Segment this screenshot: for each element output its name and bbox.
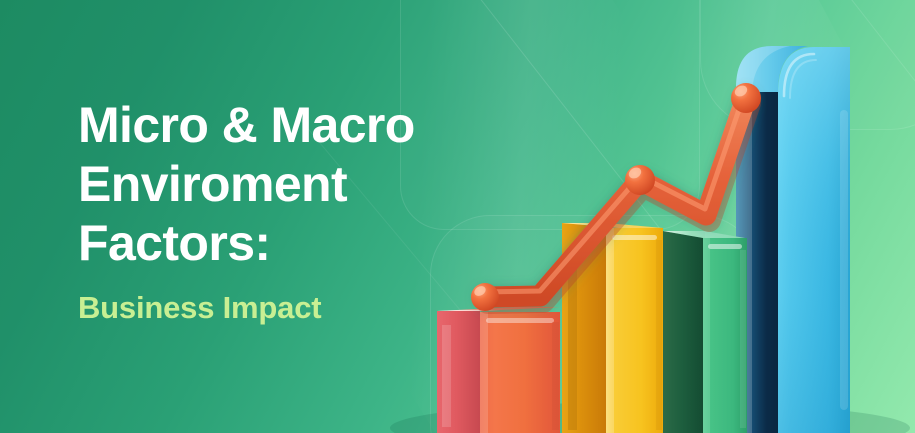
trend-node-2 (625, 165, 655, 195)
page-subtitle: Business Impact (78, 289, 508, 327)
banner-graphic: Micro & Macro Enviroment Factors: Busine… (0, 0, 915, 433)
text-block: Micro & Macro Enviroment Factors: Busine… (78, 96, 508, 327)
bar-green (663, 231, 747, 433)
page-title: Micro & Macro Enviroment Factors: (78, 96, 508, 273)
trend-node-3 (731, 83, 761, 113)
